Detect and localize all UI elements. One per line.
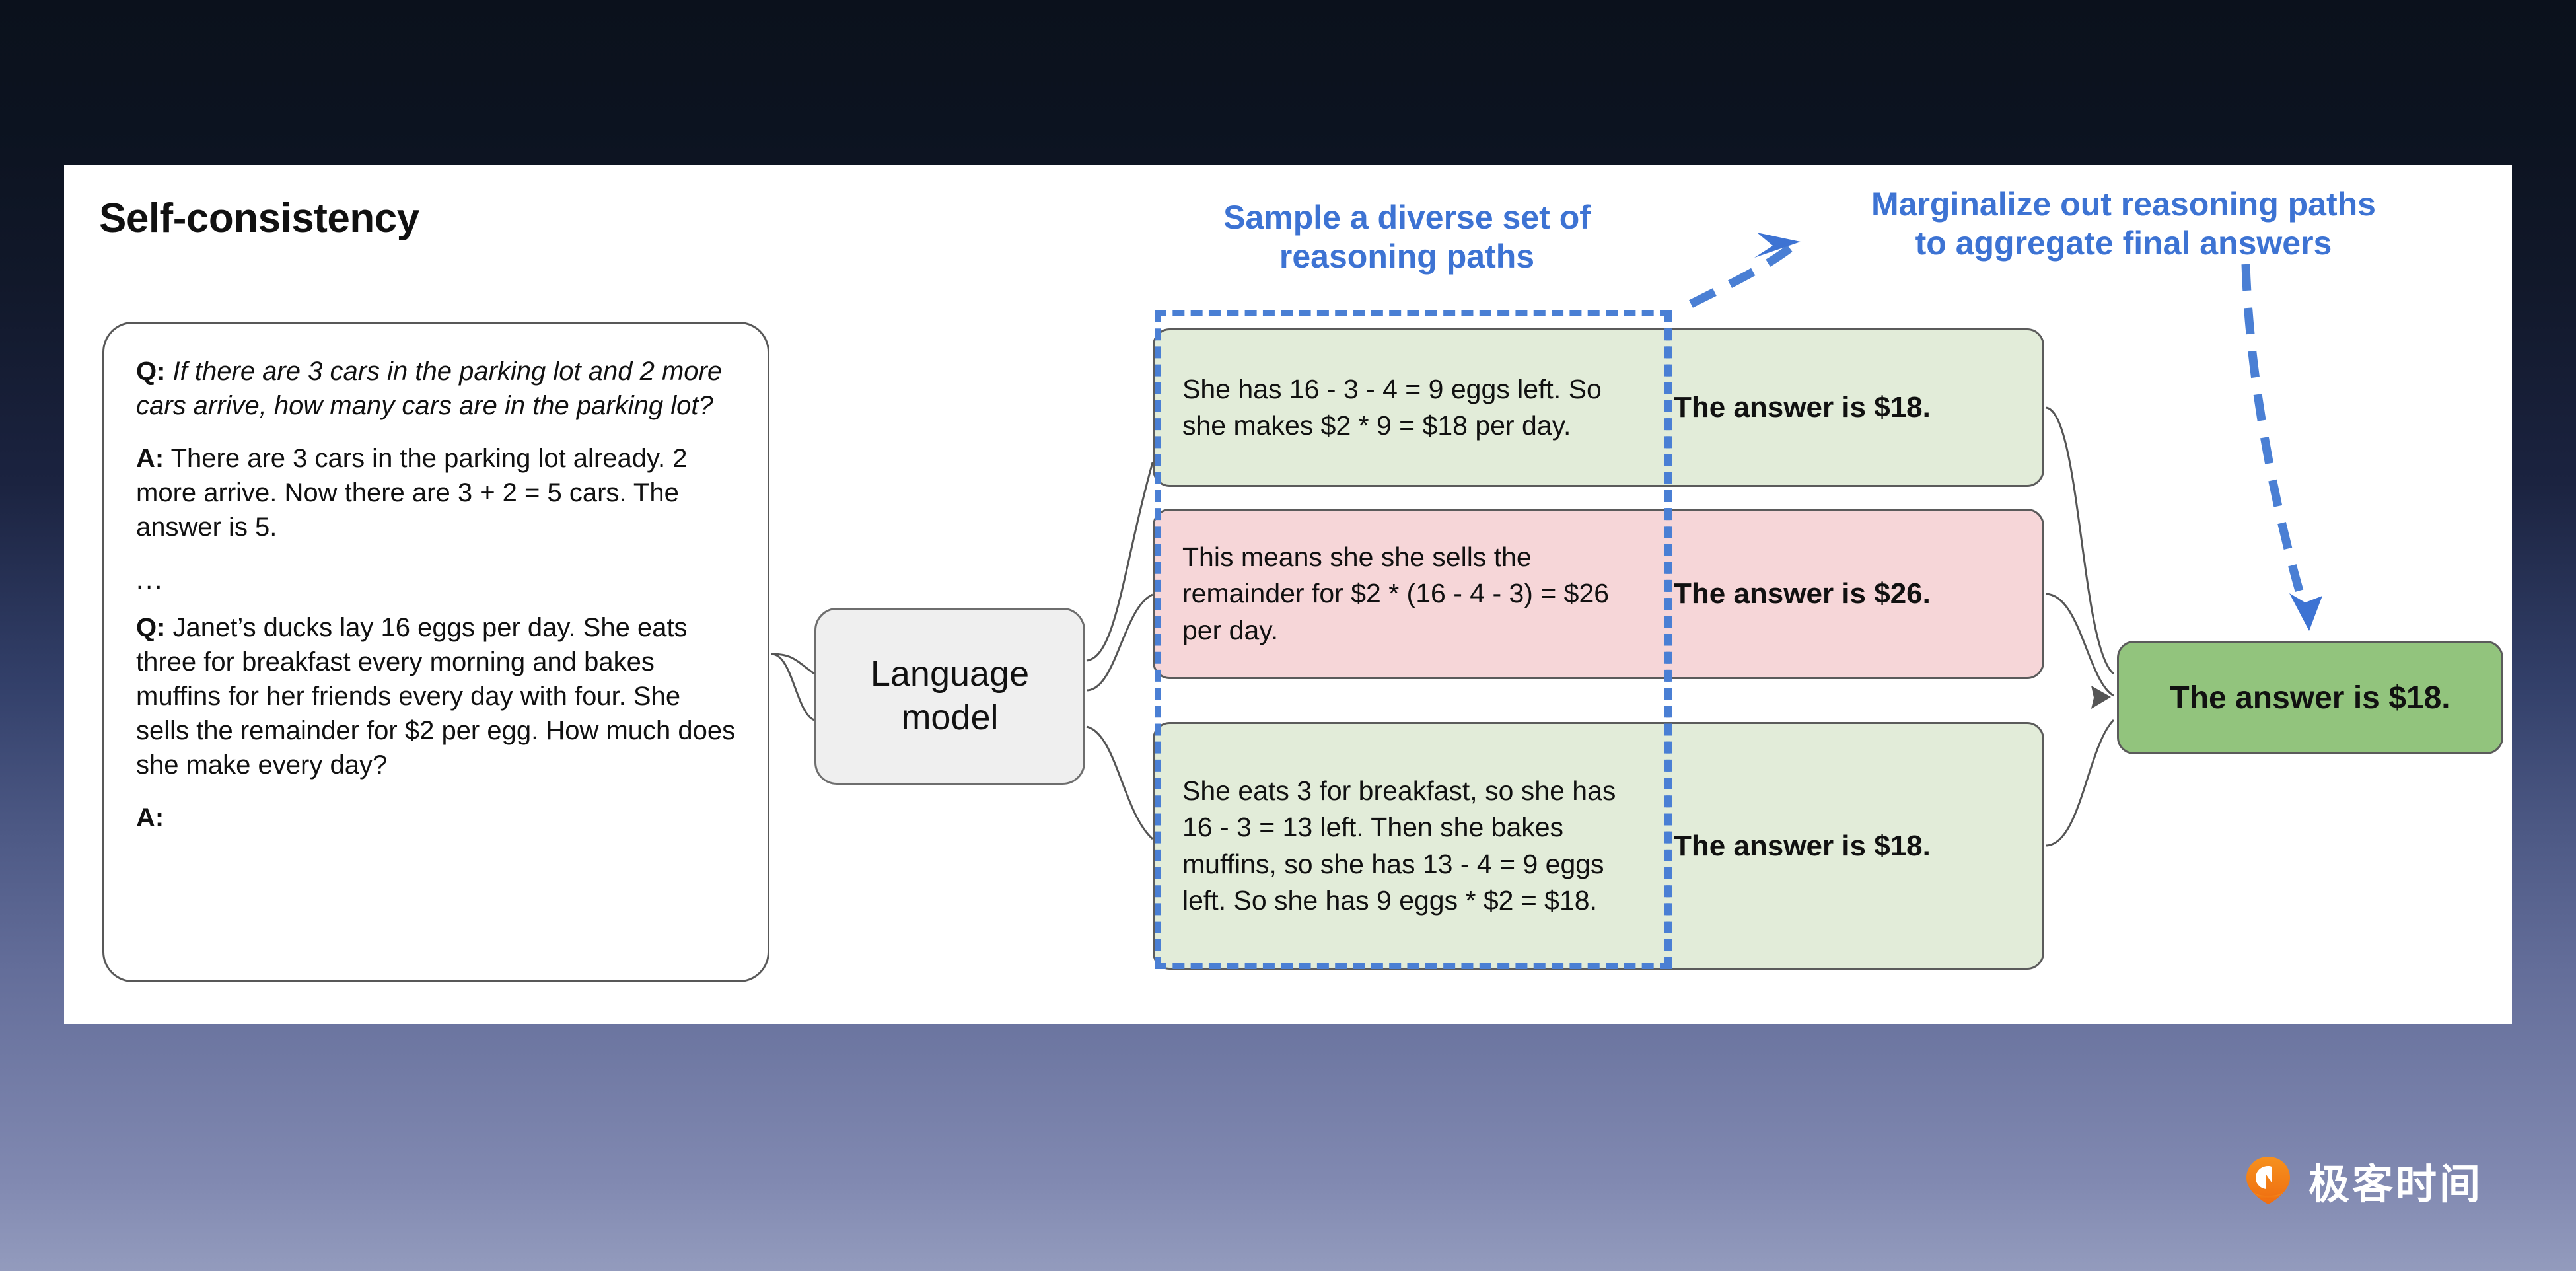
watermark: 极客时间 [2242,1151,2483,1210]
prompt-q1-label: Q: [136,357,165,386]
final-answer-box: The answer is $18. [2117,641,2503,754]
prompt-q1-text: If there are 3 cars in the parking lot a… [136,357,722,420]
header-sample-line2: reasoning paths [1279,238,1534,275]
header-sample-paths: Sample a diverse set of reasoning paths [1163,198,1651,276]
prompt-a1-text: There are 3 cars in the parking lot alre… [136,444,688,542]
prompt-q2-text: Janet’s ducks lay 16 eggs per day. She e… [136,613,735,780]
sampling-region-outline [1155,310,1672,969]
header-sample-line1: Sample a diverse set of [1223,199,1591,236]
sampling-region-divider [1664,310,1670,969]
answer-text-2: The answer is $26. [1643,577,2042,610]
header-marginalize-line1: Marginalize out reasoning paths [1871,186,2376,223]
language-model-label-line2: model [901,698,998,737]
language-model-label-line1: Language [871,654,1029,694]
header-marginalize: Marginalize out reasoning paths to aggre… [1770,185,2477,263]
header-marginalize-line2: to aggregate final answers [1915,225,2332,262]
answer-text-1: The answer is $18. [1643,391,2042,424]
geektime-pin-icon [2242,1155,2294,1206]
prompt-a2: A: [136,801,738,835]
prompt-a2-label: A: [136,803,164,832]
answer-text-3: The answer is $18. [1643,830,2042,863]
prompt-q2-label: Q: [136,613,165,642]
prompt-q2: Q: Janet’s ducks lay 16 eggs per day. Sh… [136,610,738,782]
page-title: Self-consistency [99,195,419,242]
watermark-text: 极客时间 [2308,1151,2483,1210]
prompt-a1: A: There are 3 cars in the parking lot a… [136,441,738,544]
prompt-q1: Q: If there are 3 cars in the parking lo… [136,354,738,423]
prompt-ellipsis: ... [136,563,738,597]
prompt-a1-label: A: [136,444,164,473]
prompt-box: Q: If there are 3 cars in the parking lo… [102,322,769,982]
language-model-box: Language model [814,608,1085,785]
